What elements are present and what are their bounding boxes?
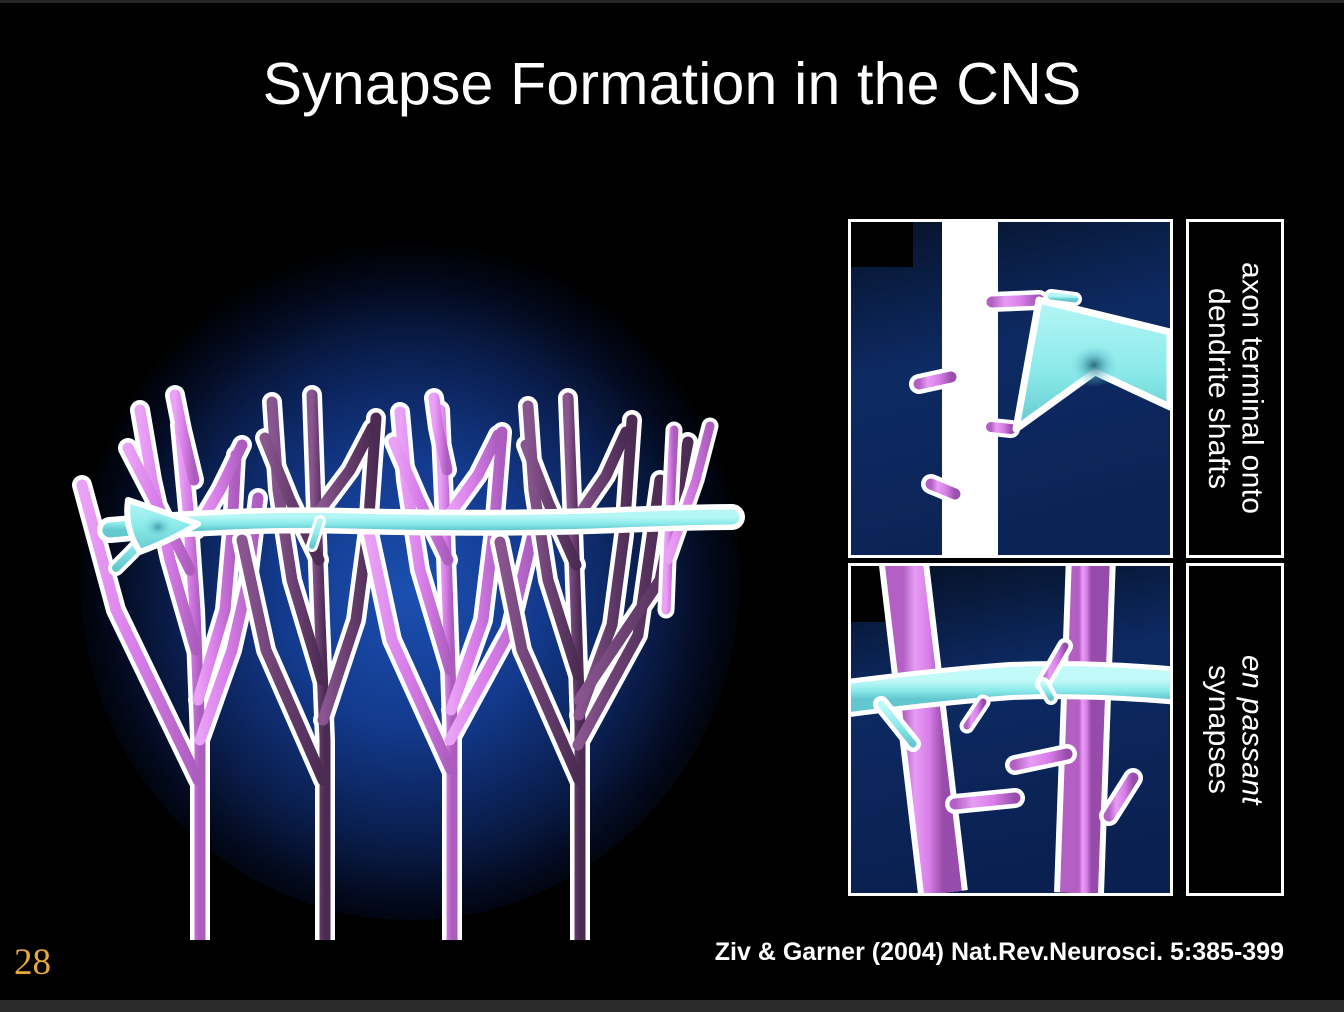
inset-bottom-axon — [851, 680, 1170, 699]
inset-bottom-dendrite-right — [1079, 566, 1091, 893]
dendrite-forest-illustration — [20, 180, 800, 940]
inset-bottom-label-box: en passant synapses — [1186, 563, 1284, 896]
dendrite-forest-svg — [20, 180, 800, 940]
inset-bottom-label-line-1: en passant — [1236, 655, 1269, 805]
inset-top-label-box: axon terminal onto dendrite shafts — [1186, 219, 1284, 558]
inset-bottom-svg — [851, 566, 1170, 893]
inset-panel-en-passant[interactable] — [848, 563, 1173, 896]
inset-bottom-label-line-2: synapses — [1202, 665, 1235, 794]
slide-canvas: Synapse Formation in the CNS — [0, 0, 1344, 1012]
inset-top-bouton-core — [1068, 343, 1120, 387]
inset-top-label-line-2: dendrite shafts — [1202, 288, 1235, 489]
bouton-core — [141, 514, 175, 540]
inset-bottom-label-text: en passant synapses — [1201, 655, 1268, 805]
inset-top-label-text: axon terminal onto dendrite shafts — [1201, 262, 1268, 514]
inset-top-svg — [851, 222, 1170, 555]
page-number: 28 — [14, 944, 51, 981]
page-title: Synapse Formation in the CNS — [0, 50, 1344, 118]
inset-top-label-line-1: axon terminal onto — [1236, 262, 1269, 514]
inset-panel-axon-terminal[interactable] — [848, 219, 1173, 558]
top-hairline — [0, 0, 1344, 3]
inset-top-corner-patch — [851, 222, 913, 267]
citation-text: Ziv & Garner (2004) Nat.Rev.Neurosci. 5:… — [0, 938, 1284, 967]
window-bottom-bar — [0, 1000, 1344, 1012]
